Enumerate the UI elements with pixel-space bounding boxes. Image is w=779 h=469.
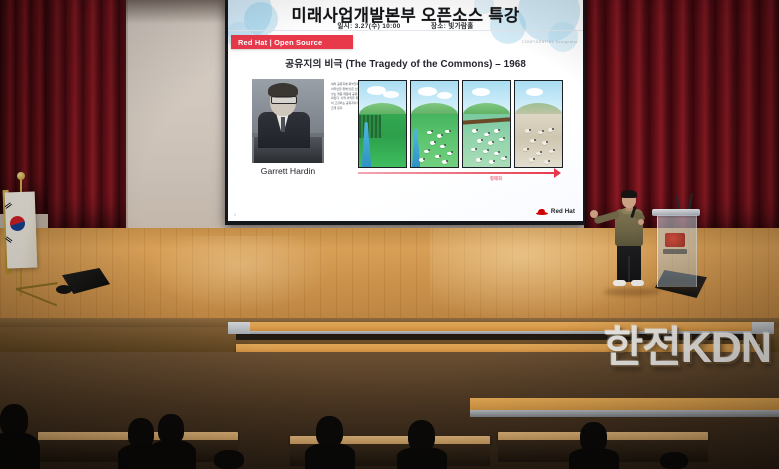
riser-end-cap [228,322,250,334]
speaker-shoe [631,280,644,286]
portrait-glasses-icon [271,96,297,104]
panel-overgrazing [462,80,511,168]
garrett-hardin-portrait [252,79,324,163]
flag-finial-icon [17,172,25,180]
audience-head [660,452,688,469]
slide-subtitle: 일시: 3.27(수) 10:00 장소: 빛가람홀 [228,20,583,30]
sheep-icon [483,150,488,153]
audience-head [214,450,244,469]
portrait-caption: Garrett Hardin [236,166,340,176]
sheep-icon [494,129,499,132]
progression-arrow-label: 황폐화 [490,176,502,182]
sheep-icon [489,160,494,163]
sheep-icon [548,128,553,131]
sheep-icon [536,152,541,155]
panel-field [515,114,562,167]
sheep-icon [538,131,543,134]
sheep-icon [549,150,554,153]
panel-grazing-begins [410,80,459,168]
progression-arrow [358,172,556,174]
sheep-icon [544,160,549,163]
stage-curtain-far-left [0,0,52,214]
sheep-icon [476,158,481,161]
sheep-icon [501,157,506,160]
audience-shoulders [0,432,40,469]
speaker-shoe [613,280,626,286]
panel-treeline [359,115,381,137]
stage-curtain-left [48,0,126,236]
panel-barren-land [514,80,563,168]
podium-nameplate [663,249,687,254]
sheep-icon [484,133,489,136]
sheep-icon [430,141,435,144]
sheep-icon [437,134,442,137]
speaker-leg-split [628,256,630,282]
redhat-fedora-icon [536,208,548,215]
podium-emblem [665,233,685,247]
cloud-icon [418,87,438,96]
audience-shoulders [148,440,196,469]
sheep-icon [542,141,547,144]
slide-section-heading: 공유지의 비극 (The Tragedy of the Commons) – 1… [228,56,583,70]
presentation-slide: 미래사업개발본부 오픈소스 특강 일시: 3.27(수) 10:00 장소: 빛… [228,0,583,221]
sheep-icon [488,141,493,144]
portrait-photo [252,79,324,163]
wall-seam [126,0,128,232]
progression-arrow-head-icon [554,168,561,178]
portrait-tie [281,117,285,132]
sheep-icon [530,139,535,142]
redhat-logo: Red Hat [536,208,575,215]
sheep-icon [499,138,504,141]
speaker-hair [621,190,637,198]
acrylic-podium [655,209,697,287]
slide-subtitle-place: 장소: 빛가람홀 [431,23,474,30]
slide-divider [228,30,583,31]
redhat-open-source-tag: Red Hat | Open Source [231,35,353,49]
audience-shoulders [397,447,447,469]
sheep-icon [472,129,477,132]
podium-top-surface [652,209,700,216]
speaker-presenter [600,192,660,292]
sheep-icon [494,152,499,155]
sheep-icon [447,152,452,155]
monitor-cable-left [56,285,72,294]
slide-page-number: 8 [234,212,236,217]
cloud-icon [526,88,543,96]
front-row-desk-rail [470,410,779,417]
redhat-logo-text: Red Hat [551,208,575,215]
sheep-icon [477,139,482,142]
panel-green-pasture [358,80,407,168]
audience-shoulders [569,448,619,469]
sheep-icon [435,155,440,158]
speaker-hand [590,210,598,218]
confidential-notice: CONFIDENTIAL Designator [522,40,578,44]
sheep-icon [419,158,424,161]
tragedy-commons-panels [358,80,563,168]
sheep-icon [442,160,447,163]
sheep-icon [529,158,534,161]
floor-light-reflection [150,236,330,310]
slide-subtitle-date: 일시: 3.27(수) 10:00 [337,23,400,30]
audience-shoulders [305,443,355,469]
venue-watermark: 한전KDN [604,327,771,370]
sheep-icon [525,129,530,132]
cloud-icon [472,88,490,96]
auditorium-photo: 미래사업개발본부 오픈소스 특강 일시: 3.27(수) 10:00 장소: 빛… [0,0,779,469]
speaker-hand [638,219,644,225]
sheep-icon [440,145,445,148]
